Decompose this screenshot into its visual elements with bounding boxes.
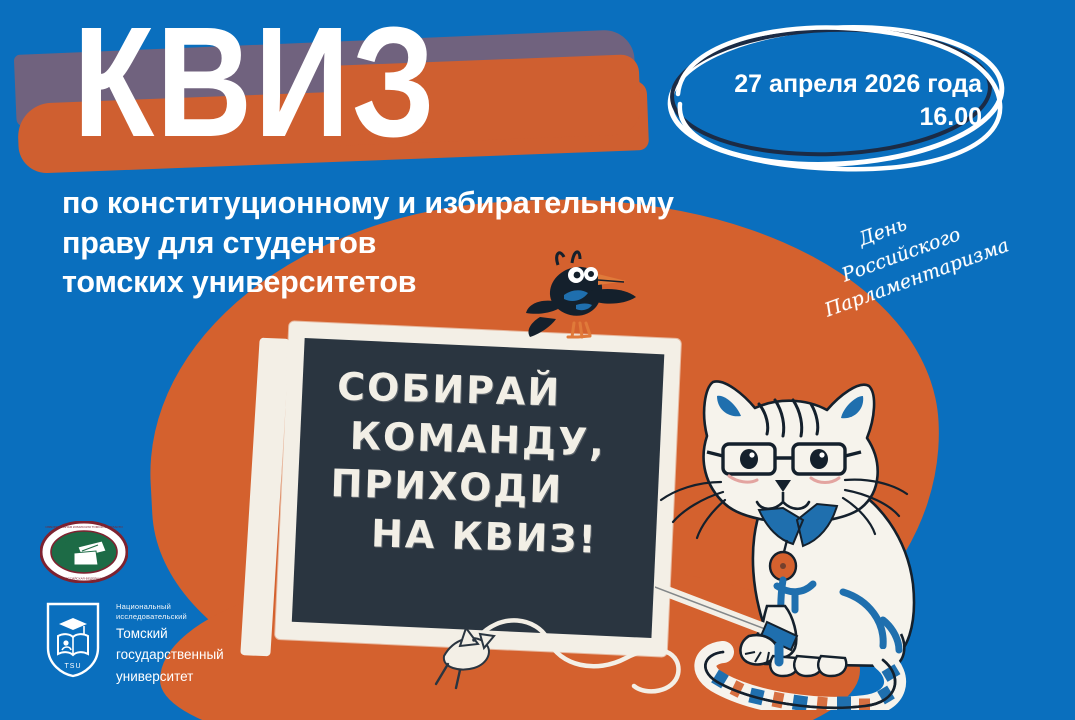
subtitle-line-1: по конституционному и избирательному	[62, 184, 674, 224]
tsu-big-line-1: Томский	[116, 625, 224, 643]
date-badge-text: 27 апреля 2026 года 16.00	[698, 68, 982, 134]
event-time: 16.00	[698, 101, 982, 134]
poster-title: КВИЗ	[73, 5, 437, 162]
election-commission-emblem-icon: ИЗБИРАТЕЛЬНАЯ КОМИССИЯ ТОМСКОЙ ОБЛАСТИ Р…	[40, 521, 128, 583]
chalkboard-line-1: СОБИРАЙ	[337, 362, 664, 420]
chalkboard-line-2: КОМАНДУ,	[349, 411, 662, 468]
tsu-logo: TSU Национальный исследовательский Томск…	[44, 600, 234, 686]
election-commission-logo: ИЗБИРАТЕЛЬНАЯ КОМИССИЯ ТОМСКОЙ ОБЛАСТИ Р…	[40, 521, 128, 583]
event-date: 27 апреля 2026 года	[734, 70, 982, 98]
tsu-big-line-3: университет	[116, 668, 224, 686]
tsu-big-line-2: государственный	[116, 646, 224, 664]
tsu-small-line-2: исследовательский	[116, 612, 224, 622]
cat-illustration	[655, 370, 1015, 710]
poster-canvas: КВИЗ 27 апреля 2026 года 16.00 по консти…	[0, 0, 1075, 720]
emblem-ring-text-bottom: РОССИЙСКАЯ ФЕДЕРАЦИЯ	[63, 577, 105, 581]
crow-illustration	[524, 243, 654, 353]
emblem-ring-text-top: ИЗБИРАТЕЛЬНАЯ КОМИССИЯ ТОМСКОЙ ОБЛАСТИ	[45, 525, 122, 529]
tsu-small-line-1: Национальный	[116, 602, 224, 612]
professor-cat-icon	[655, 370, 1015, 710]
chalkboard-text: СОБИРАЙ КОМАНДУ, ПРИХОДИ НА КВИЗ!	[328, 362, 663, 566]
tsu-logo-text: Национальный исследовательский Томский г…	[116, 602, 224, 686]
crow-icon	[524, 243, 654, 353]
tsu-abbr-text: TSU	[65, 663, 82, 670]
tsu-shield-icon: TSU	[44, 600, 102, 678]
chalkboard-line-4: НА КВИЗ!	[370, 509, 659, 566]
date-badge: 27 апреля 2026 года 16.00	[648, 12, 1020, 180]
